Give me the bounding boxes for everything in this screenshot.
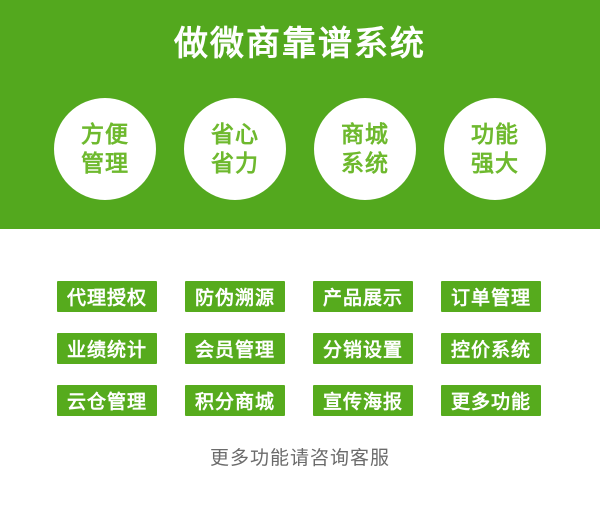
feature-tag-grid: 代理授权 防伪溯源 产品展示 订单管理 业绩统计 会员管理 分销设置 控价系统 … — [57, 281, 541, 416]
feature-circle-4: 功能 强大 — [444, 98, 546, 200]
feature-tag[interactable]: 积分商城 — [185, 385, 285, 416]
feature-tag[interactable]: 控价系统 — [441, 333, 541, 364]
feature-circle-2-line2: 省力 — [211, 149, 259, 178]
feature-circle-3-line1: 商城 — [341, 120, 389, 149]
feature-circle-1: 方便 管理 — [54, 98, 156, 200]
feature-circle-2: 省心 省力 — [184, 98, 286, 200]
feature-tag[interactable]: 更多功能 — [441, 385, 541, 416]
feature-circle-4-line2: 强大 — [471, 149, 519, 178]
page-title: 做微商靠谱系统 — [0, 22, 600, 66]
feature-circle-3: 商城 系统 — [314, 98, 416, 200]
feature-tag[interactable]: 会员管理 — [185, 333, 285, 364]
feature-circle-3-line2: 系统 — [341, 149, 389, 178]
feature-circle-2-line1: 省心 — [211, 120, 259, 149]
feature-tag[interactable]: 云仓管理 — [57, 385, 157, 416]
feature-tag[interactable]: 分销设置 — [313, 333, 413, 364]
feature-tag[interactable]: 防伪溯源 — [185, 281, 285, 312]
feature-circle-row: 方便 管理 省心 省力 商城 系统 功能 强大 — [0, 98, 600, 200]
feature-tag[interactable]: 代理授权 — [57, 281, 157, 312]
feature-circle-1-line1: 方便 — [81, 120, 129, 149]
feature-circle-1-line2: 管理 — [81, 149, 129, 178]
feature-circle-4-line1: 功能 — [471, 120, 519, 149]
hero-banner: 做微商靠谱系统 方便 管理 省心 省力 商城 系统 功能 强大 — [0, 0, 600, 229]
footnote-text: 更多功能请咨询客服 — [0, 446, 600, 472]
feature-tag[interactable]: 宣传海报 — [313, 385, 413, 416]
feature-tag[interactable]: 产品展示 — [313, 281, 413, 312]
feature-tag[interactable]: 业绩统计 — [57, 333, 157, 364]
feature-tag[interactable]: 订单管理 — [441, 281, 541, 312]
